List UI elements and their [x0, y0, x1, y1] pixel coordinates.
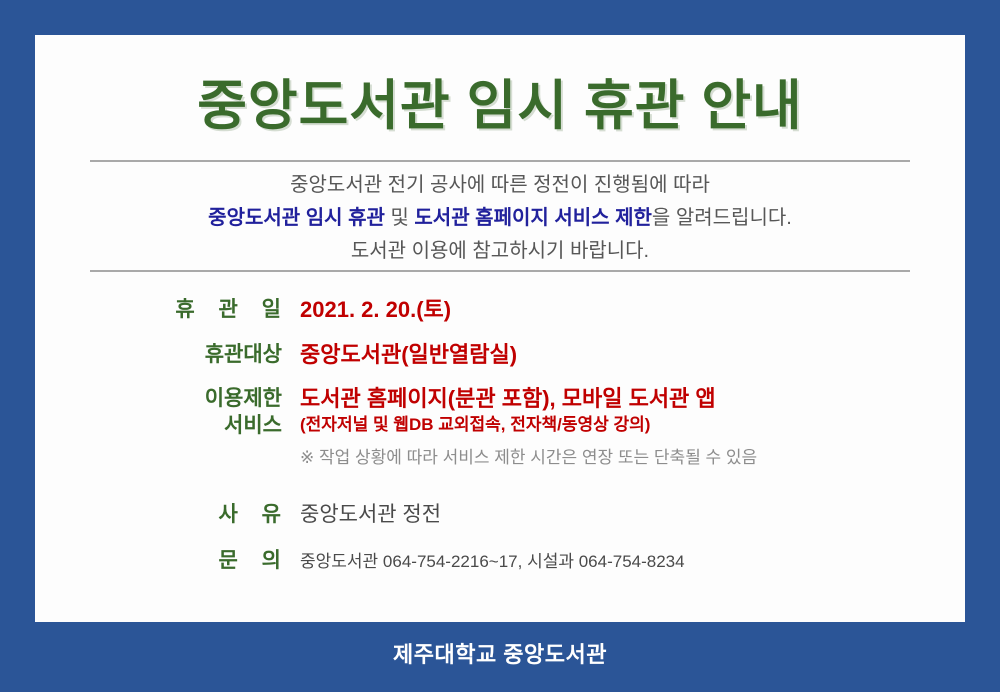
- value-contact: 중앙도서관 064-754-2216~17, 시설과 064-754-8234: [300, 548, 965, 576]
- page-title: 중앙도서관 임시 휴관 안내: [35, 61, 965, 140]
- label-limited-service-line-2: 서비스: [35, 412, 282, 439]
- value-closed-date: 2021. 2. 20.(토): [300, 297, 965, 323]
- intro-highlight-closure: 중앙도서관 임시 휴관: [208, 207, 385, 229]
- intro-line-1: 중앙도서관 전기 공사에 따른 정전이 진행됨에 따라: [35, 169, 965, 202]
- detail-row-closed-target: 휴관대상 중앙도서관(일반열람실): [35, 342, 965, 368]
- label-limited-service-line-1: 이용제한: [35, 385, 282, 412]
- details-list: 휴 관 일 2021. 2. 20.(토) 휴관대상 중앙도서관(일반열람실) …: [35, 297, 965, 576]
- detail-row-contact: 문 의 중앙도서관 064-754-2216~17, 시설과 064-754-8…: [35, 548, 965, 576]
- label-closed-date: 휴 관 일: [35, 297, 300, 323]
- intro-line-2-tail: 을 알려드립니다.: [652, 207, 792, 229]
- label-closed-target: 휴관대상: [35, 342, 300, 368]
- notice-panel: 중앙도서관 임시 휴관 안내 중앙도서관 전기 공사에 따른 정전이 진행됨에 …: [35, 35, 965, 622]
- intro-paragraph: 중앙도서관 전기 공사에 따른 정전이 진행됨에 따라 중앙도서관 임시 휴관 …: [35, 169, 965, 268]
- value-closed-target: 중앙도서관(일반열람실): [300, 342, 965, 368]
- value-limited-service-sub: (전자저널 및 웹DB 교외접속, 전자책/동영상 강의): [300, 412, 965, 437]
- footer-organization: 제주대학교 중앙도서관: [0, 637, 1000, 669]
- intro-highlight-service: 도서관 홈페이지 서비스 제한: [414, 207, 651, 229]
- label-reason: 사 유: [35, 502, 300, 528]
- divider-bottom: [90, 270, 910, 272]
- intro-line-2: 중앙도서관 임시 휴관 및 도서관 홈페이지 서비스 제한을 알려드립니다.: [35, 202, 965, 235]
- limited-service-note: ※ 작업 상황에 따라 서비스 제한 시간은 연장 또는 단축될 수 있음: [300, 447, 965, 469]
- label-limited-service: 이용제한 서비스: [35, 385, 300, 439]
- value-limited-service: 도서관 홈페이지(분관 포함), 모바일 도서관 앱 (전자저널 및 웹DB 교…: [300, 385, 965, 437]
- value-limited-service-main: 도서관 홈페이지(분관 포함), 모바일 도서관 앱: [300, 385, 965, 412]
- detail-row-limited-service: 이용제한 서비스 도서관 홈페이지(분관 포함), 모바일 도서관 앱 (전자저…: [35, 385, 965, 439]
- divider-top: [90, 160, 910, 162]
- label-contact: 문 의: [35, 548, 300, 574]
- value-reason: 중앙도서관 정전: [300, 502, 965, 528]
- intro-line-3: 도서관 이용에 참고하시기 바랍니다.: [35, 235, 965, 268]
- intro-line-2-mid: 및: [385, 207, 415, 229]
- detail-row-reason: 사 유 중앙도서관 정전: [35, 502, 965, 528]
- detail-row-closed-date: 휴 관 일 2021. 2. 20.(토): [35, 297, 965, 323]
- notice-poster: 중앙도서관 임시 휴관 안내 중앙도서관 전기 공사에 따른 정전이 진행됨에 …: [0, 0, 1000, 692]
